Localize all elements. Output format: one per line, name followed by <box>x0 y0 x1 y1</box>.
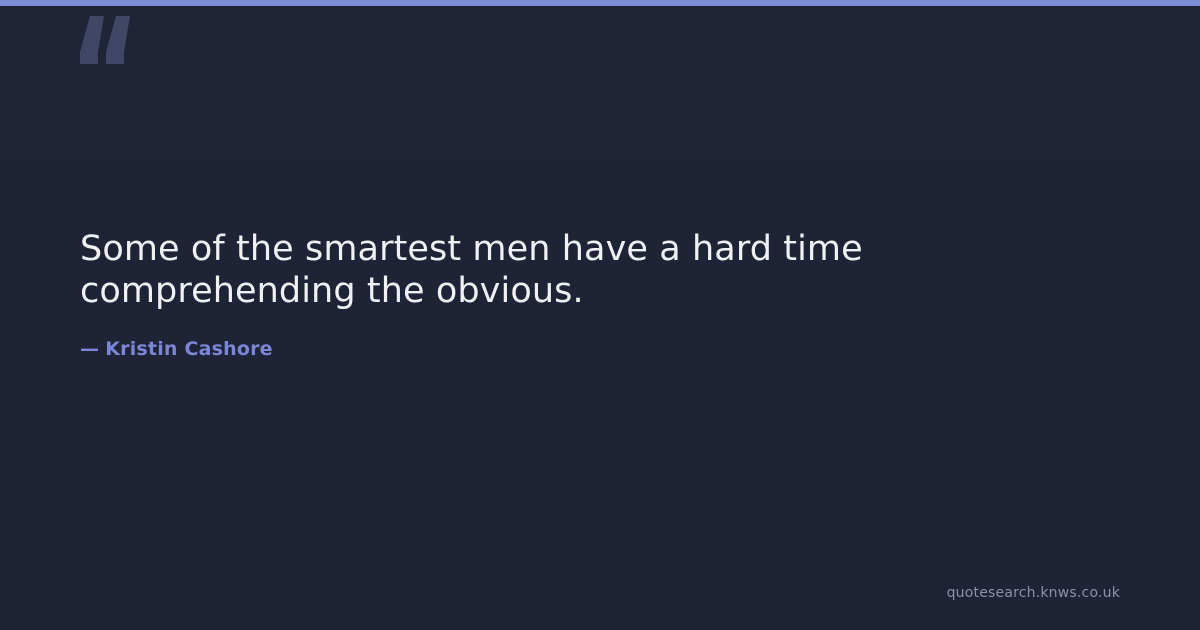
quote-attribution: —Kristin Cashore <box>80 337 1080 361</box>
attribution-author: Kristin Cashore <box>105 338 273 360</box>
top-accent-bar <box>0 0 1200 6</box>
quote-content: Some of the smartest men have a hard tim… <box>80 228 1080 361</box>
quote-text: Some of the smartest men have a hard tim… <box>80 228 930 312</box>
attribution-dash: — <box>80 338 99 360</box>
quote-card: Some of the smartest men have a hard tim… <box>0 0 1200 630</box>
double-quote-open-icon <box>78 14 138 84</box>
site-watermark: quotesearch.knws.co.uk <box>947 584 1120 602</box>
